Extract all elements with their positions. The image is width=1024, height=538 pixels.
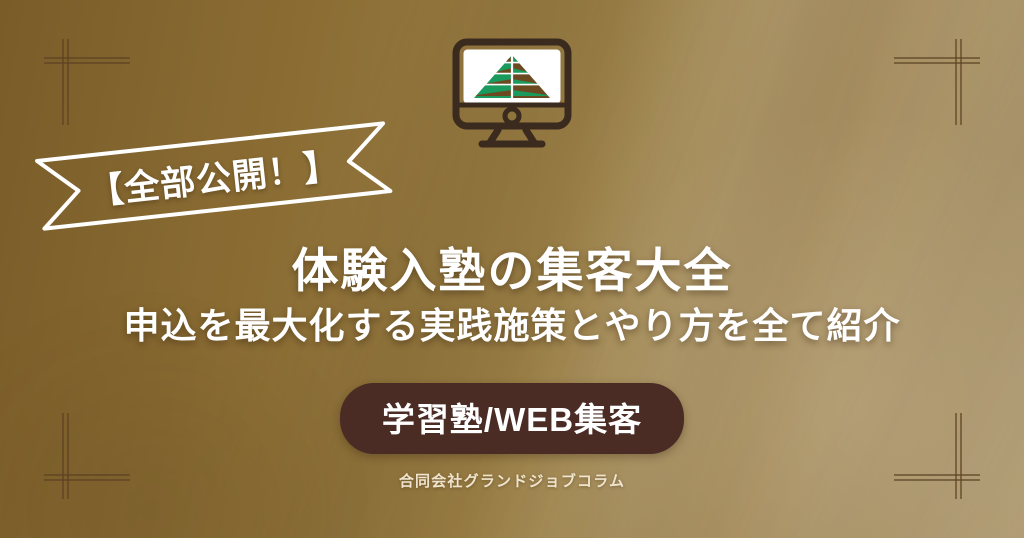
corner-bracket-top-right [894,33,986,125]
ribbon-banner: 【全部公開！】 [29,105,399,252]
page-subtitle: 申込を最大化する実践施策とやり方を全て紹介 [0,297,1024,349]
category-badge: 学習塾/WEB集客 [340,383,684,454]
monitor-icon [448,38,576,155]
category-badge-row: 学習塾/WEB集客 [0,383,1024,454]
corner-bracket-top-left [38,33,130,125]
footer-credit: 合同会社グランドジョブコラム [0,470,1024,491]
ribbon-label: 【全部公開！】 [29,105,398,247]
page-title: 体験入塾の集客大全 [0,232,1024,301]
banner-canvas: 【全部公開！】 体験入塾の集客大全 申込を最大化する実践施策とやり方を全て紹介 … [0,0,1024,538]
monitor-icon-svg [448,38,576,150]
